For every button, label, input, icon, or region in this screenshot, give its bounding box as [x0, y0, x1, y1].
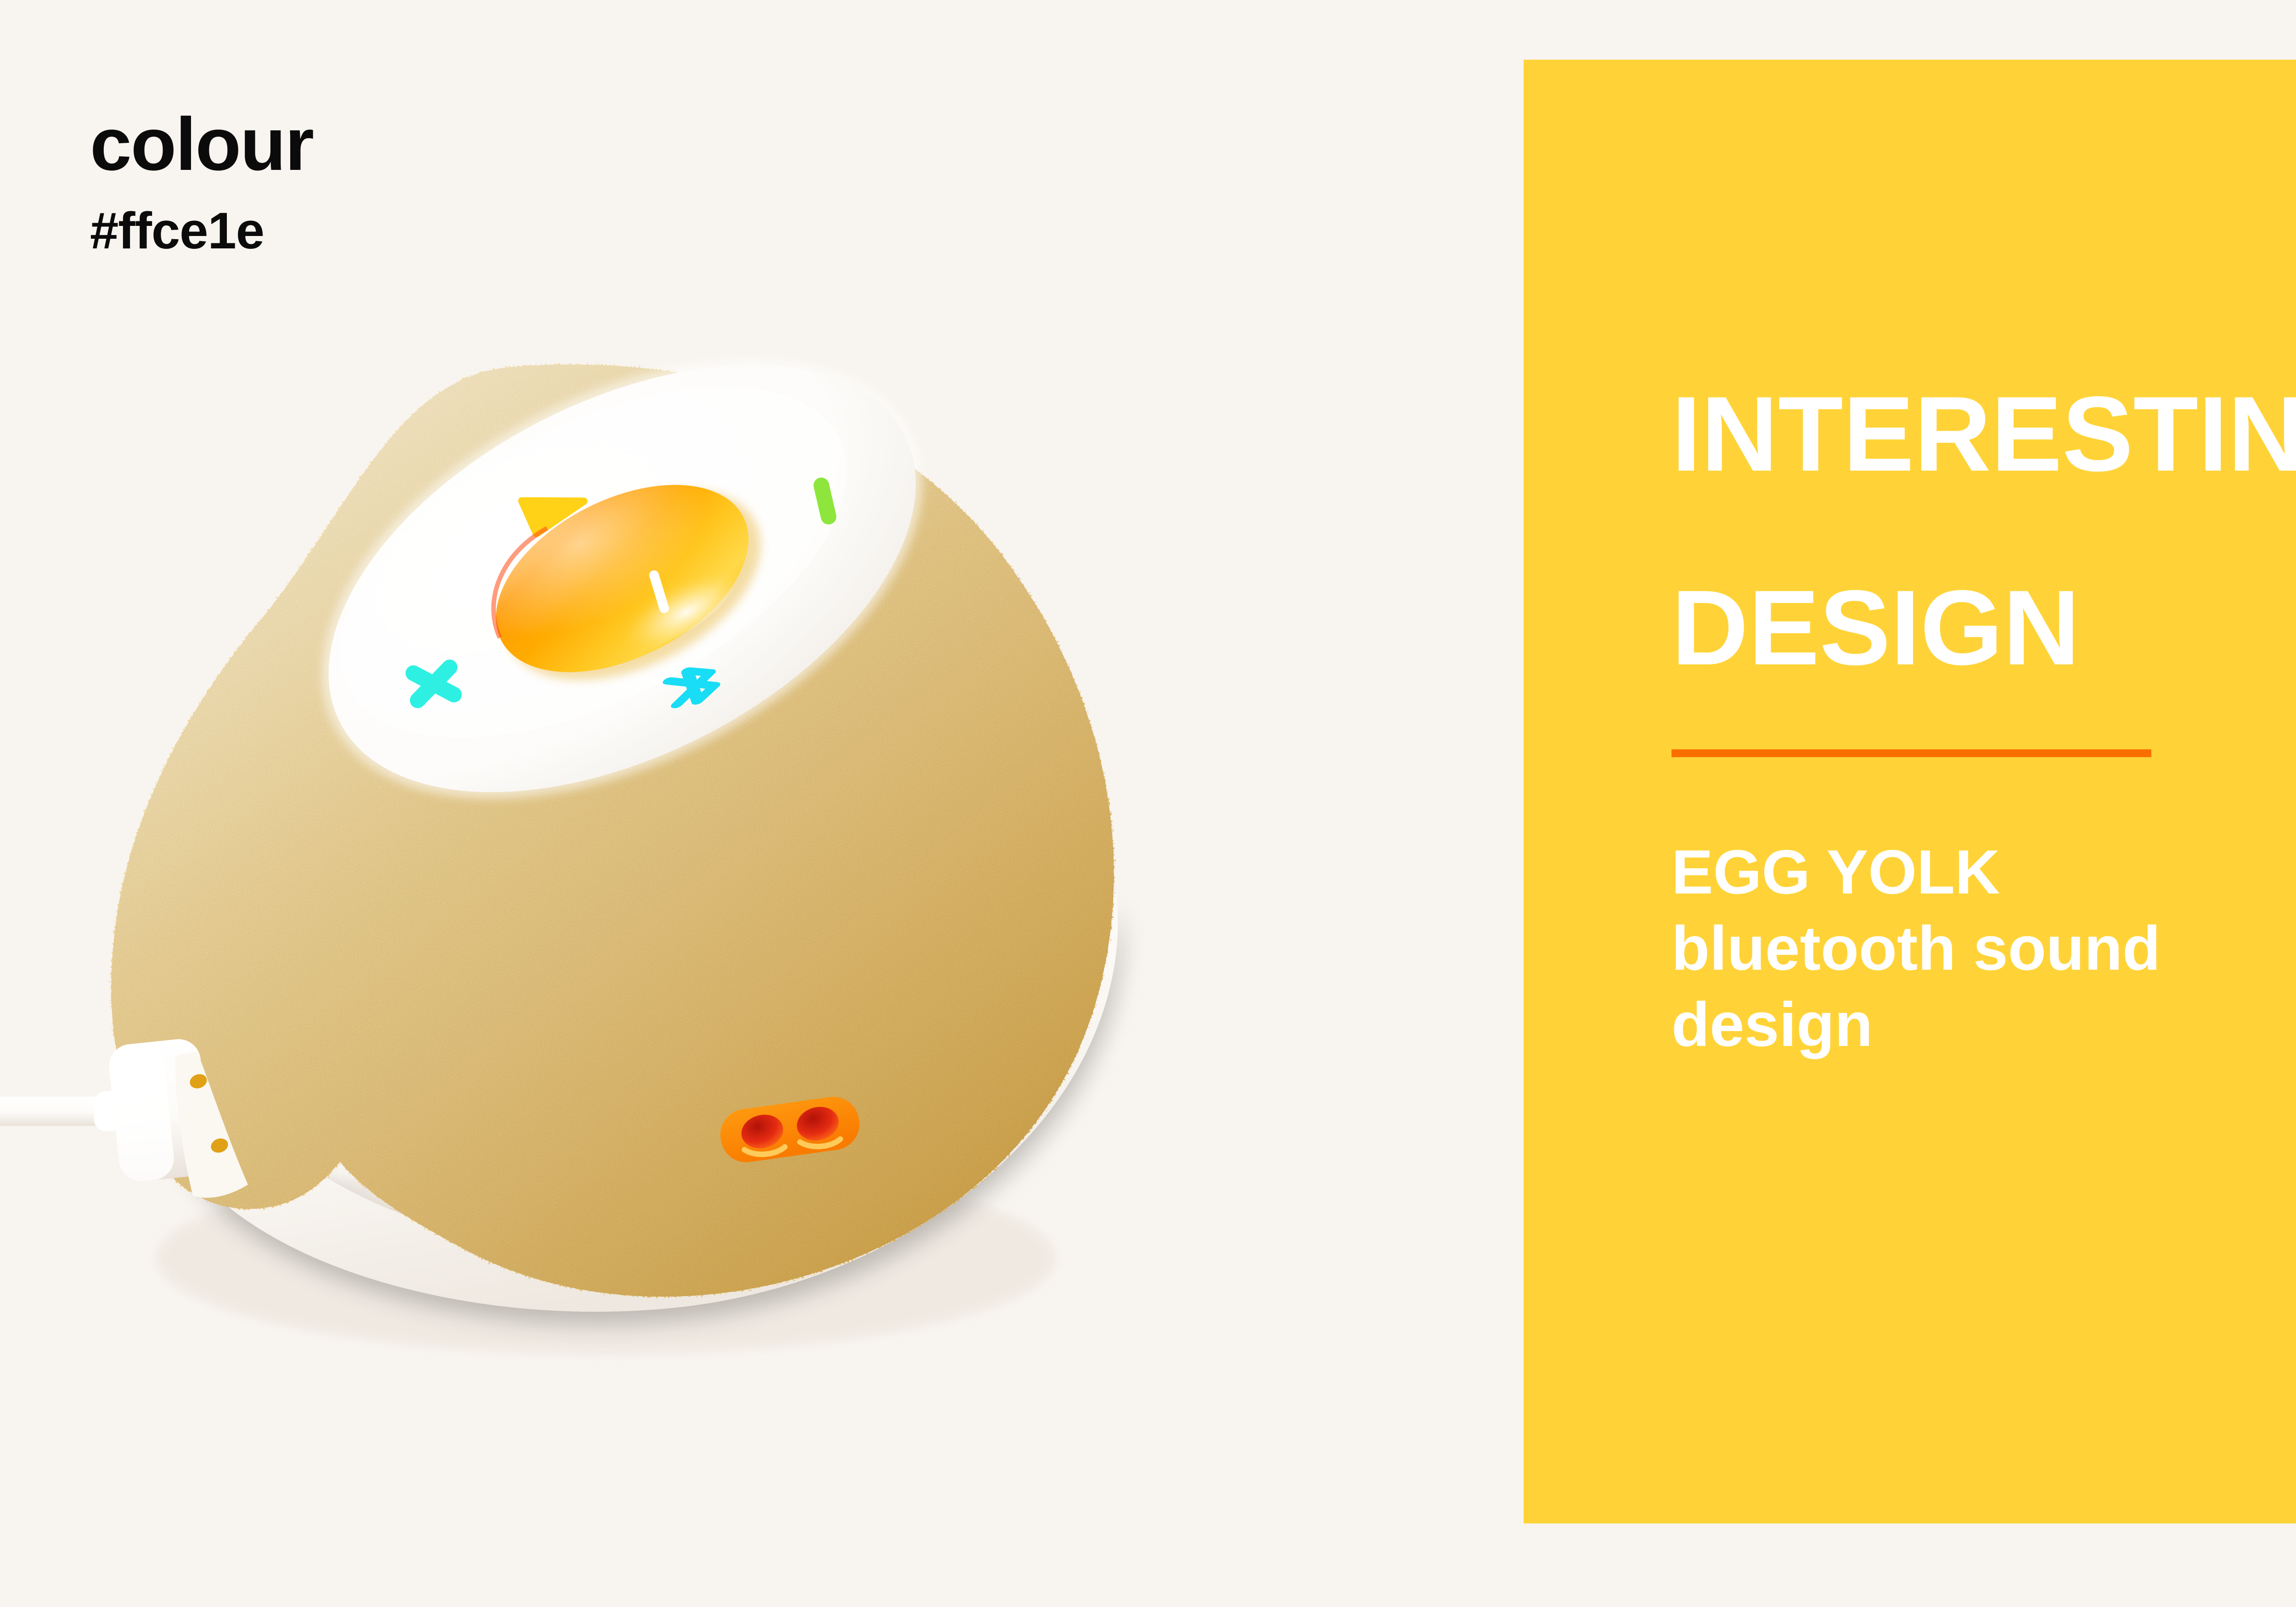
- headline-line-2: DESIGN: [1671, 575, 2296, 681]
- orange-divider-rule: [1671, 749, 2151, 757]
- product-illustration: [0, 321, 1424, 1423]
- poster-canvas: colour #ffce1e: [0, 0, 2296, 1607]
- description-line-2: bluetooth sound: [1671, 910, 2296, 987]
- page-title: colour: [90, 107, 313, 181]
- headline-line-1: INTERESTING: [1671, 381, 2296, 488]
- product-image: [0, 321, 1424, 1423]
- description-line-1: EGG YOLK: [1671, 834, 2296, 910]
- product-description: EGG YOLK bluetooth sound design: [1671, 834, 2296, 1063]
- hex-code-label: #ffce1e: [90, 205, 313, 257]
- cable-wire: [0, 1096, 110, 1126]
- panel-content: INTERESTING DESIGN EGG YOLK bluetooth so…: [1671, 381, 2296, 1063]
- yellow-info-panel: INTERESTING DESIGN EGG YOLK bluetooth so…: [1524, 60, 2296, 1523]
- description-line-3: design: [1671, 987, 2296, 1063]
- colour-swatch-header: colour #ffce1e: [90, 107, 313, 257]
